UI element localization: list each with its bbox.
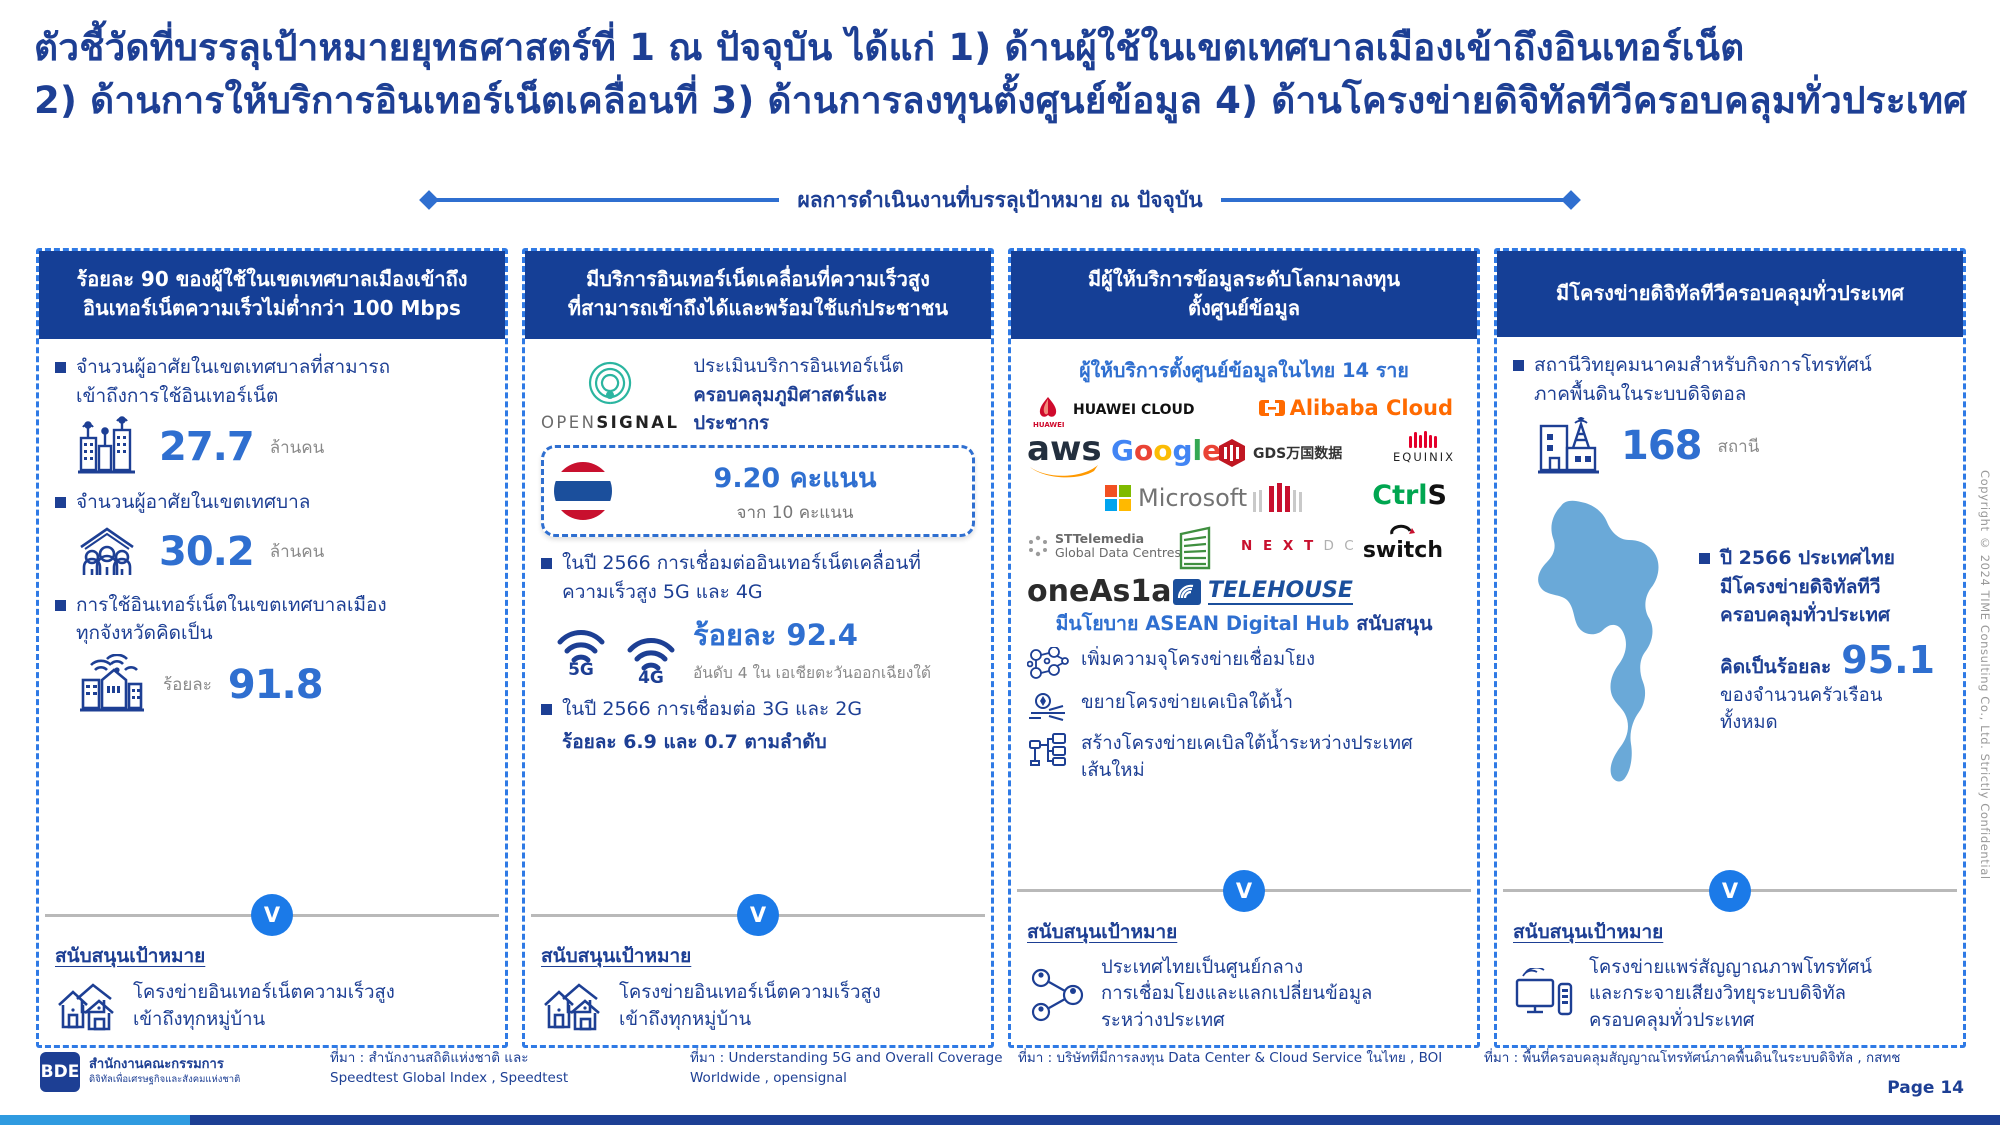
stat-value: 91.8 xyxy=(228,662,323,708)
microsoft-label: Microsoft xyxy=(1138,484,1247,512)
map-stat-value: 95.1 xyxy=(1841,638,1935,682)
bullet-text: ในปี 2566 การเชื่อมต่อ 3G และ 2G xyxy=(562,695,862,724)
support-text: โครงข่ายแพร่สัญญาณภาพโทรทัศน์และกระจายเส… xyxy=(1589,955,1872,1035)
gds-mark-icon xyxy=(1217,438,1247,468)
score-value: 9.20 คะแนน xyxy=(628,456,962,499)
5g-wifi-icon: 5G xyxy=(553,621,609,677)
card-4-header: มีโครงข่ายดิจิทัลทีวีครอบคลุมทั่วประเทศ xyxy=(1497,251,1963,337)
village-houses-icon xyxy=(55,979,121,1035)
card-2-body: OPENSIGNAL ประเมินบริการอินเทอร์เน็ต ครอ… xyxy=(525,339,991,889)
city-buildings-icon xyxy=(75,416,143,478)
svg-text:5G: 5G xyxy=(568,660,594,677)
score-subtext: จาก 10 คะแนน xyxy=(628,499,962,526)
map-section: ปี 2566 ประเทศไทยมีโครงข่ายดิจิทัลทีวีคร… xyxy=(1513,488,1947,792)
equinix-mark-icon xyxy=(1407,430,1441,450)
card-3-support: สนับสนุนเป้าหมาย ประเทศไทยเป็นศูนย์กลางก… xyxy=(1011,913,1477,1045)
stat-row: 168 สถานี xyxy=(1533,414,1947,478)
logo-grid-title: ผู้ให้บริการตั้งศูนย์ข้อมูลในไทย 14 ราย xyxy=(1027,355,1461,386)
slide-root: ตัวชี้วัดที่บรรลุเป้าหมายยุทธศาสตร์ที่ 1… xyxy=(0,0,2000,1125)
card-digital-tv[interactable]: มีโครงข่ายดิจิทัลทีวีครอบคลุมทั่วประเทศ … xyxy=(1494,248,1966,1048)
support-text: ประเทศไทยเป็นศูนย์กลางการเชื่อมโยงและแลก… xyxy=(1101,955,1372,1035)
support-title: สนับสนุนเป้าหมาย xyxy=(55,941,489,971)
google-logo: Google xyxy=(1111,434,1221,467)
house-family-icon xyxy=(75,523,143,581)
card-2-divider: V xyxy=(531,893,985,937)
alibaba-cloud-logo: Alibaba Cloud xyxy=(1259,396,1453,420)
map-stat-row: คิดเป็นร้อยละ 95.1 xyxy=(1720,638,1947,682)
card-1-divider: V xyxy=(45,893,499,937)
arrow-line-right xyxy=(1221,198,1571,202)
card-3-body: ผู้ให้บริการตั้งศูนย์ข้อมูลในไทย 14 ราย … xyxy=(1011,339,1477,865)
pct-note: อันดับ 4 ใน เอเชียตะวันออกเฉียงใต้ xyxy=(693,660,975,685)
bullet-text: จำนวนผู้อาศัยในเขตเทศบาล xyxy=(76,488,310,517)
bullet-item: การใช้อินเทอร์เน็ตในเขตเทศบาลเมืองทุกจัง… xyxy=(55,591,489,648)
village-houses-icon xyxy=(541,979,607,1035)
thailand-flag-icon xyxy=(554,462,612,520)
gds-logo: GDS万国数据 xyxy=(1217,438,1342,468)
bde-line-1: สำนักงานคณะกรรมการ xyxy=(89,1057,240,1074)
thailand-map xyxy=(1513,488,1693,792)
aws-logo: aws xyxy=(1027,436,1102,479)
asean-item-text: ขยายโครงข่ายเคเบิลใต้น้ำ xyxy=(1081,690,1293,717)
switch-logo: switch xyxy=(1363,524,1443,562)
map-stat-sub: ของจำนวนครัวเรือนทั้งหมด xyxy=(1720,682,1947,738)
card-mobile-internet[interactable]: มีบริการอินเทอร์เน็ตเคลื่อนที่ความเร็วสู… xyxy=(522,248,994,1048)
sttelemedia-logo: STTelemediaGlobal Data Centres xyxy=(1027,532,1181,561)
card-3-header: มีผู้ให้บริการข้อมูลระดับโลกมาลงทุนตั้งศ… xyxy=(1011,251,1477,339)
bde-line-2: ดิจิทัลเพื่อเศรษฐกิจและสังคมแห่งชาติ xyxy=(89,1074,240,1086)
v-badge: V xyxy=(1709,870,1751,912)
stat-unit: สถานี xyxy=(1718,433,1760,460)
gds-label: GDS万国数据 xyxy=(1253,443,1342,463)
network-nodes-icon xyxy=(1027,647,1069,681)
support-text: โครงข่ายอินเทอร์เน็ตความเร็วสูงเข้าถึงทุ… xyxy=(619,980,881,1034)
stat-prefix: ร้อยละ xyxy=(163,671,212,698)
asean-item-text: สร้างโครงข่ายเคเบิลใต้น้ำระหว่างประเทศเส… xyxy=(1081,731,1413,785)
bullet-square-icon xyxy=(55,497,66,508)
broadcast-tower-icon xyxy=(1533,414,1605,478)
telehouse-label: TELEHOUSE xyxy=(1208,578,1353,605)
svg-text:4G: 4G xyxy=(638,668,664,685)
stat-row: 27.7 ล้านคน xyxy=(75,416,489,478)
asean-policy-title: มีนโยบาย ASEAN Digital Hub สนับสนุน xyxy=(1027,608,1461,639)
title-line-2: 2) ด้านการให้บริการอินเทอร์เน็ตเคลื่อนที… xyxy=(34,75,1964,128)
source-card-3: ที่มา : บริษัทที่มีการลงทุน Data Center … xyxy=(1018,1048,1442,1068)
card-2-support: สนับสนุนเป้าหมาย โครงข่ายอินเทอร์เน็ตควา… xyxy=(525,937,991,1045)
card-4-body: สถานีวิทยุคมนาคมสำหรับกิจการโทรทัศน์ภาคพ… xyxy=(1497,337,1963,865)
opensignal-wordmark: OPENSIGNAL xyxy=(541,413,679,432)
bullet-square-icon xyxy=(541,704,552,715)
sub-stat-text: ร้อยละ 6.9 และ 0.7 ตามลำดับ xyxy=(562,728,827,757)
card-2-header: มีบริการอินเทอร์เน็ตเคลื่อนที่ความเร็วสู… xyxy=(525,251,991,339)
stat-value: 30.2 xyxy=(159,529,254,575)
cable-network-icon xyxy=(1027,731,1069,767)
bde-mark-icon: BDE xyxy=(40,1052,80,1092)
map-stat-prefix: คิดเป็นร้อยละ xyxy=(1720,652,1831,682)
bullet-item: ในปี 2566 การเชื่อมต่ออินเทอร์เน็ตเคลื่อ… xyxy=(541,549,975,606)
opensignal-description: ประเมินบริการอินเทอร์เน็ต ครอบคลุมภูมิศา… xyxy=(693,353,903,439)
nextdc-logo: N E X T D C xyxy=(1241,538,1357,554)
5g-4g-values: ร้อยละ 92.4 อันดับ 4 ใน เอเชียตะวันออกเฉ… xyxy=(693,612,975,685)
bde-wordmark: สำนักงานคณะกรรมการ ดิจิทัลเพื่อเศรษฐกิจแ… xyxy=(89,1057,240,1086)
asean-item: ขยายโครงข่ายเคเบิลใต้น้ำ xyxy=(1027,690,1461,722)
v-badge: V xyxy=(1223,870,1265,912)
5g-4g-stat-row: 5G 4G ร้อยละ 92.4 อันดับ 4 ใน เอเชียตะวั… xyxy=(553,612,975,685)
card-4-support: สนับสนุนเป้าหมาย โครงข่ายแพร่สัญ xyxy=(1497,913,1963,1045)
pct-value: ร้อยละ 92.4 xyxy=(693,612,975,658)
diamond-right-icon xyxy=(1561,190,1581,210)
card-1-header: ร้อยละ 90 ของผู้ใช้ในเขตเทศบาลเมืองเข้าถ… xyxy=(39,251,505,339)
bullet-text: สถานีวิทยุคมนาคมสำหรับกิจการโทรทัศน์ภาคพ… xyxy=(1534,351,1872,408)
bullet-text: การใช้อินเทอร์เน็ตในเขตเทศบาลเมืองทุกจัง… xyxy=(76,591,387,648)
os-desc-line-3: ประชากร xyxy=(693,410,903,439)
card-4-divider: V xyxy=(1503,869,1957,913)
bullet-item: จำนวนผู้อาศัยในเขตเทศบาลที่สามารถเข้าถึง… xyxy=(55,353,489,410)
stat-unit: ล้านคน xyxy=(270,538,325,565)
stat-row: ร้อยละ 91.8 xyxy=(75,654,489,716)
bottom-bar-accent xyxy=(0,1115,190,1125)
bullet-square-icon xyxy=(55,362,66,373)
stat-value: 168 xyxy=(1621,423,1702,469)
equinix-logo: EQUINIX xyxy=(1393,430,1455,464)
huawei-cloud-label: HUAWEI CLOUD xyxy=(1073,402,1195,418)
page-title: ตัวชี้วัดที่บรรลุเป้าหมายยุทธศาสตร์ที่ 1… xyxy=(34,22,1964,127)
support-row: โครงข่ายแพร่สัญญาณภาพโทรทัศน์และกระจายเส… xyxy=(1513,955,1947,1035)
score-text: 9.20 คะแนน จาก 10 คะแนน xyxy=(628,456,962,526)
huawei-cloud-logo: HUAWEI xyxy=(1031,394,1065,426)
support-title: สนับสนุนเป้าหมาย xyxy=(1027,917,1461,947)
sttelemedia-mark-icon xyxy=(1027,535,1049,557)
bullet-item: จำนวนผู้อาศัยในเขตเทศบาล xyxy=(55,488,489,517)
hub-network-icon xyxy=(1027,966,1089,1024)
undersea-cable-icon xyxy=(1027,690,1069,722)
sub-stat-row: ร้อยละ 6.9 และ 0.7 ตามลำดับ xyxy=(562,728,975,757)
card-3-divider: V xyxy=(1017,869,1471,913)
city-wifi-icon xyxy=(75,654,147,716)
card-1-body: จำนวนผู้อาศัยในเขตเทศบาลที่สามารถเข้าถึง… xyxy=(39,339,505,889)
bullet-text: ปี 2566 ประเทศไทยมีโครงข่ายดิจิทัลทีวีคร… xyxy=(1720,544,1895,630)
microsoft-mark-icon xyxy=(1105,485,1131,511)
asean-item: เพิ่มความจุโครงข่ายเชื่อมโยง xyxy=(1027,647,1461,681)
page-number: Page 14 xyxy=(1887,1078,1964,1098)
telehouse-logo: TELEHOUSE xyxy=(1173,578,1353,605)
aws-smile-icon xyxy=(1028,463,1100,479)
card-data-center[interactable]: มีผู้ให้บริการข้อมูลระดับโลกมาลงทุนตั้งศ… xyxy=(1008,248,1480,1048)
support-row: โครงข่ายอินเทอร์เน็ตความเร็วสูงเข้าถึงทุ… xyxy=(541,979,975,1035)
copyright-text: Copyright © 2024 TIME Consulting Co., Lt… xyxy=(1978,470,1992,880)
switch-label: switch xyxy=(1363,540,1443,562)
os-desc-line-2: ครอบคลุมภูมิศาสตร์และ xyxy=(693,382,903,411)
equinix-label: EQUINIX xyxy=(1393,450,1455,464)
oneasia-logo: oneAs1a xyxy=(1027,574,1172,609)
bullet-square-icon xyxy=(1513,360,1524,371)
stat-unit: ล้านคน xyxy=(270,434,325,461)
provider-logo-grid: HUAWEI HUAWEI CLOUD Alibaba Cloud xyxy=(1027,392,1461,602)
title-line-1: ตัวชี้วัดที่บรรลุเป้าหมายยุทธศาสตร์ที่ 1… xyxy=(34,22,1964,75)
source-citations: ที่มา : สำนักงานสถิติแห่งชาติ และSpeedte… xyxy=(0,1048,2000,1108)
asean-item: สร้างโครงข่ายเคเบิลใต้น้ำระหว่างประเทศเส… xyxy=(1027,731,1461,785)
opensignal-logo xyxy=(582,357,638,407)
bullet-item: ในปี 2566 การเชื่อมต่อ 3G และ 2G xyxy=(541,695,975,724)
bullet-square-icon xyxy=(1699,553,1710,564)
4g-wifi-icon: 4G xyxy=(623,629,679,685)
support-title: สนับสนุนเป้าหมาย xyxy=(541,941,975,971)
source-card-1: ที่มา : สำนักงานสถิติแห่งชาติ และSpeedte… xyxy=(330,1048,568,1089)
source-card-4: ที่มา : พื้นที่ครอบคลุมสัญญาณโทรทัศน์ภาค… xyxy=(1484,1048,1900,1068)
alibaba-mark-icon xyxy=(1259,398,1285,418)
stat-row: 30.2 ล้านคน xyxy=(75,523,489,581)
support-row: โครงข่ายอินเทอร์เน็ตความเร็วสูงเข้าถึงทุ… xyxy=(55,979,489,1035)
support-title: สนับสนุนเป้าหมาย xyxy=(1513,917,1947,947)
tv-broadcast-icon xyxy=(1513,968,1577,1022)
map-stats: ปี 2566 ประเทศไทยมีโครงข่ายดิจิทัลทีวีคร… xyxy=(1699,488,1947,792)
subheading-text: ผลการดำเนินงานที่บรรลุเป้าหมาย ณ ปัจจุบั… xyxy=(797,184,1202,217)
bde-logo: BDE สำนักงานคณะกรรมการ ดิจิทัลเพื่อเศรษฐ… xyxy=(40,1052,240,1092)
opensignal-block: OPENSIGNAL ประเมินบริการอินเทอร์เน็ต ครอ… xyxy=(541,353,975,439)
bottom-bar xyxy=(0,1115,2000,1125)
bullet-item: ปี 2566 ประเทศไทยมีโครงข่ายดิจิทัลทีวีคร… xyxy=(1699,544,1947,630)
diamond-left-icon xyxy=(420,190,440,210)
telehouse-mark-icon xyxy=(1173,579,1201,605)
v-badge: V xyxy=(251,894,293,936)
thailand-score-box: 9.20 คะแนน จาก 10 คะแนน xyxy=(541,445,975,537)
subheading-banner: ผลการดำเนินงานที่บรรลุเป้าหมาย ณ ปัจจุบั… xyxy=(0,186,2000,214)
card-1-support: สนับสนุนเป้าหมาย โครงข่ายอินเทอร์เน็ตควา… xyxy=(39,937,505,1045)
card-grid: ร้อยละ 90 ของผู้ใช้ในเขตเทศบาลเมืองเข้าถ… xyxy=(36,248,1966,1048)
ctrls-logo: CtrlS xyxy=(1372,480,1447,511)
green-building-icon xyxy=(1175,526,1215,570)
opensignal-logo-wrap: OPENSIGNAL xyxy=(541,353,679,432)
microsoft-logo: Microsoft xyxy=(1105,484,1247,512)
card-internet-access[interactable]: ร้อยละ 90 ของผู้ใช้ในเขตเทศบาลเมืองเข้าถ… xyxy=(36,248,508,1048)
bullet-text: ในปี 2566 การเชื่อมต่ออินเทอร์เน็ตเคลื่อ… xyxy=(562,549,921,606)
asean-item-text: เพิ่มความจุโครงข่ายเชื่อมโยง xyxy=(1081,647,1315,674)
bullet-item: สถานีวิทยุคมนาคมสำหรับกิจการโทรทัศน์ภาคพ… xyxy=(1513,351,1947,408)
stat-value: 27.7 xyxy=(159,424,254,470)
source-card-2: ที่มา : Understanding 5G and Overall Cov… xyxy=(690,1048,1003,1089)
os-desc-line-1: ประเมินบริการอินเทอร์เน็ต xyxy=(693,353,903,382)
bullet-square-icon xyxy=(541,558,552,569)
bullet-text: จำนวนผู้อาศัยในเขตเทศบาลที่สามารถเข้าถึง… xyxy=(76,353,390,410)
nextdc-mark-icon xyxy=(1249,480,1311,516)
bullet-square-icon xyxy=(55,600,66,611)
v-badge: V xyxy=(737,894,779,936)
support-text: โครงข่ายอินเทอร์เน็ตความเร็วสูงเข้าถึงทุ… xyxy=(133,980,395,1034)
arrow-line-left xyxy=(429,198,779,202)
support-row: ประเทศไทยเป็นศูนย์กลางการเชื่อมโยงและแลก… xyxy=(1027,955,1461,1035)
